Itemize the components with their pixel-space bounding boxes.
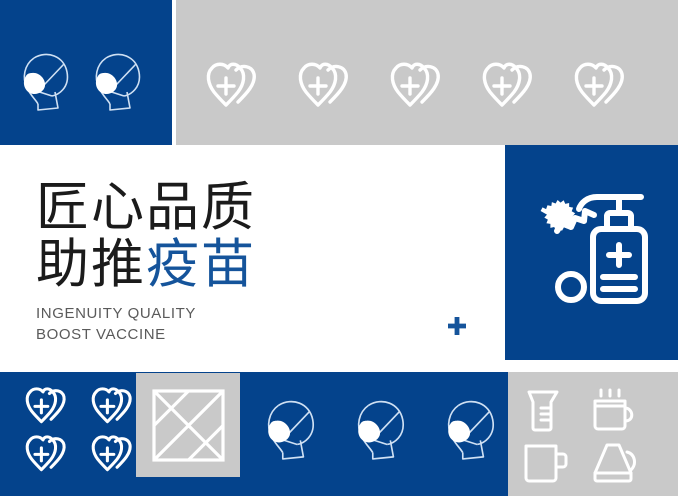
headline-line-2: 助推疫苗 [36, 236, 256, 293]
masked-head-icon [86, 48, 148, 114]
masked-head-icon [348, 394, 412, 464]
double-heart-plus-icon [192, 62, 264, 114]
top-mask-icon-group [14, 48, 148, 114]
headline-block: 匠心品质 助推疫苗 [36, 179, 256, 293]
headline-line-2-blue: 疫苗 [146, 235, 256, 294]
subtitle-line-1: INGENUITY QUALITY [36, 303, 196, 324]
bottom-mask-icon-group [258, 394, 502, 464]
double-heart-plus-icon [14, 386, 72, 430]
mug-icon [521, 440, 573, 486]
subtitle-line-2: BOOST VACCINE [36, 324, 196, 345]
middle-band: 匠心品质 助推疫苗 INGENUITY QUALITY BOOST VACCIN… [0, 145, 678, 372]
double-heart-plus-icon [14, 434, 72, 478]
image-placeholder-x-icon [152, 389, 225, 462]
kettle-icon [589, 440, 641, 486]
masked-head-icon [14, 48, 76, 114]
headline-line-2-dark: 助推 [36, 235, 146, 294]
bottom-heart-icon-group [14, 386, 138, 478]
headline-line-1: 匠心品质 [36, 179, 256, 236]
virus-particle-icon [558, 274, 584, 300]
double-heart-plus-icon [80, 386, 138, 430]
double-heart-plus-icon [560, 62, 632, 114]
double-heart-plus-icon [468, 62, 540, 114]
bottom-band [0, 372, 678, 496]
vessel-icon-group [521, 388, 641, 486]
top-heart-icon-group [192, 62, 632, 114]
measuring-beaker-icon [521, 388, 573, 434]
double-heart-plus-icon [80, 434, 138, 478]
poster-canvas: 匠心品质 助推疫苗 INGENUITY QUALITY BOOST VACCIN… [0, 0, 678, 496]
plus-icon [447, 316, 467, 336]
top-band [0, 0, 678, 145]
hand-sanitizer-bottle-icon [531, 183, 653, 323]
subtitle-block: INGENUITY QUALITY BOOST VACCINE [36, 303, 196, 345]
masked-head-icon [438, 394, 502, 464]
double-heart-plus-icon [284, 62, 356, 114]
double-heart-plus-icon [376, 62, 448, 114]
masked-head-icon [258, 394, 322, 464]
steaming-cup-icon [589, 388, 641, 434]
